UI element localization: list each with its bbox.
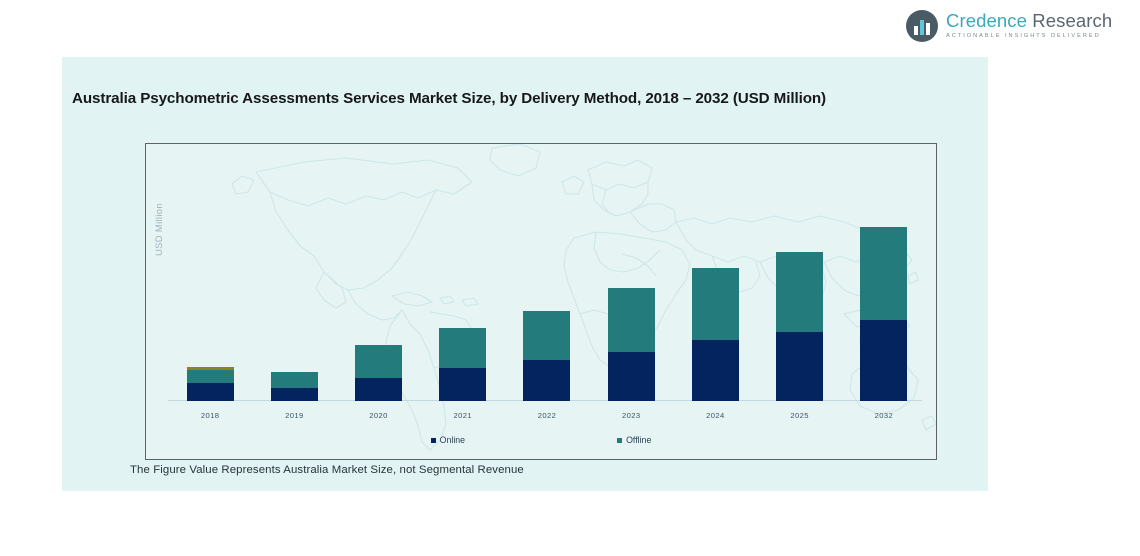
logo-text: Credence Research Actionable Insights De… — [946, 12, 1112, 40]
bar-group-2032[interactable]: 128.68 2032 — [846, 144, 922, 401]
bar-chart-circle-icon — [905, 9, 939, 43]
plot-area: USD Million 2018 — [145, 143, 937, 460]
bar-segment-offline[interactable] — [776, 252, 823, 332]
chart-footnote: The Figure Value Represents Australia Ma… — [130, 464, 524, 476]
x-axis-tick: 2024 — [706, 411, 725, 420]
chart-legend: Online Offline — [146, 435, 936, 445]
bar-group-2020[interactable]: 2020 — [341, 144, 417, 401]
bar-segment-offline[interactable] — [523, 311, 570, 360]
bar-segment-online[interactable] — [523, 360, 570, 401]
bar-segment-offline[interactable] — [439, 328, 486, 368]
logo-title: Credence Research — [946, 12, 1112, 31]
bar-segment-online[interactable] — [776, 332, 823, 401]
bar-stack[interactable] — [608, 288, 655, 401]
bar-stack[interactable] — [860, 227, 907, 401]
plot-inner: 2018 2019 2020 — [146, 144, 936, 459]
legend-swatch-online — [431, 438, 436, 443]
chart-title: Australia Psychometric Assessments Servi… — [72, 90, 982, 107]
bar-stack[interactable] — [355, 345, 402, 401]
x-axis-tick: 2025 — [790, 411, 809, 420]
legend-item-offline[interactable]: Offline — [617, 435, 651, 445]
bar-group-2024[interactable]: 72.87 2024 — [677, 144, 753, 401]
x-axis-tick: 2032 — [875, 411, 894, 420]
logo-word-research: Research — [1032, 10, 1112, 31]
bar-group-2022[interactable]: 2022 — [509, 144, 585, 401]
bar-segment-offline[interactable] — [355, 345, 402, 378]
bar-segment-offline[interactable] — [860, 227, 907, 320]
bar-segment-online[interactable] — [355, 378, 402, 401]
x-axis-tick: 2022 — [538, 411, 557, 420]
bar-segment-online[interactable] — [860, 320, 907, 401]
x-axis-tick: 2018 — [201, 411, 220, 420]
bar-segment-online[interactable] — [271, 388, 318, 401]
bar-group-2025[interactable]: 2025 — [762, 144, 838, 401]
bar-segment-offline[interactable] — [692, 268, 739, 340]
bar-segment-offline[interactable] — [271, 372, 318, 388]
bar-segment-online[interactable] — [187, 383, 234, 401]
bar-segment-online[interactable] — [439, 368, 486, 401]
x-axis-tick: 2020 — [369, 411, 388, 420]
bar-series-container: 2018 2019 2020 — [168, 144, 926, 401]
bar-stack[interactable] — [187, 367, 234, 401]
bar-stack[interactable] — [523, 311, 570, 401]
chart-panel: Australia Psychometric Assessments Servi… — [62, 57, 988, 491]
bar-stack[interactable] — [271, 372, 318, 401]
legend-label-offline: Offline — [626, 435, 651, 445]
bar-stack[interactable] — [776, 252, 823, 401]
logo-word-credence: Credence — [946, 10, 1027, 31]
x-axis-tick: 2019 — [285, 411, 304, 420]
bar-group-2018[interactable]: 2018 — [172, 144, 248, 401]
bar-group-2023[interactable]: 2023 — [593, 144, 669, 401]
bar-segment-online[interactable] — [608, 352, 655, 401]
legend-swatch-offline — [617, 438, 622, 443]
bar-segment-online[interactable] — [692, 340, 739, 401]
x-axis-tick: 2023 — [622, 411, 641, 420]
brand-logo: Credence Research Actionable Insights De… — [905, 4, 1105, 48]
legend-item-online[interactable]: Online — [431, 435, 465, 445]
logo-tagline: Actionable Insights Delivered — [946, 34, 1112, 40]
bar-stack[interactable] — [692, 268, 739, 401]
bar-group-2019[interactable]: 2019 — [256, 144, 332, 401]
bar-segment-offline[interactable] — [608, 288, 655, 352]
x-axis-tick: 2021 — [454, 411, 473, 420]
legend-label-online: Online — [440, 435, 465, 445]
bar-group-2021[interactable]: 2021 — [425, 144, 501, 401]
bar-segment-offline[interactable] — [187, 370, 234, 383]
bar-stack[interactable] — [439, 328, 486, 401]
